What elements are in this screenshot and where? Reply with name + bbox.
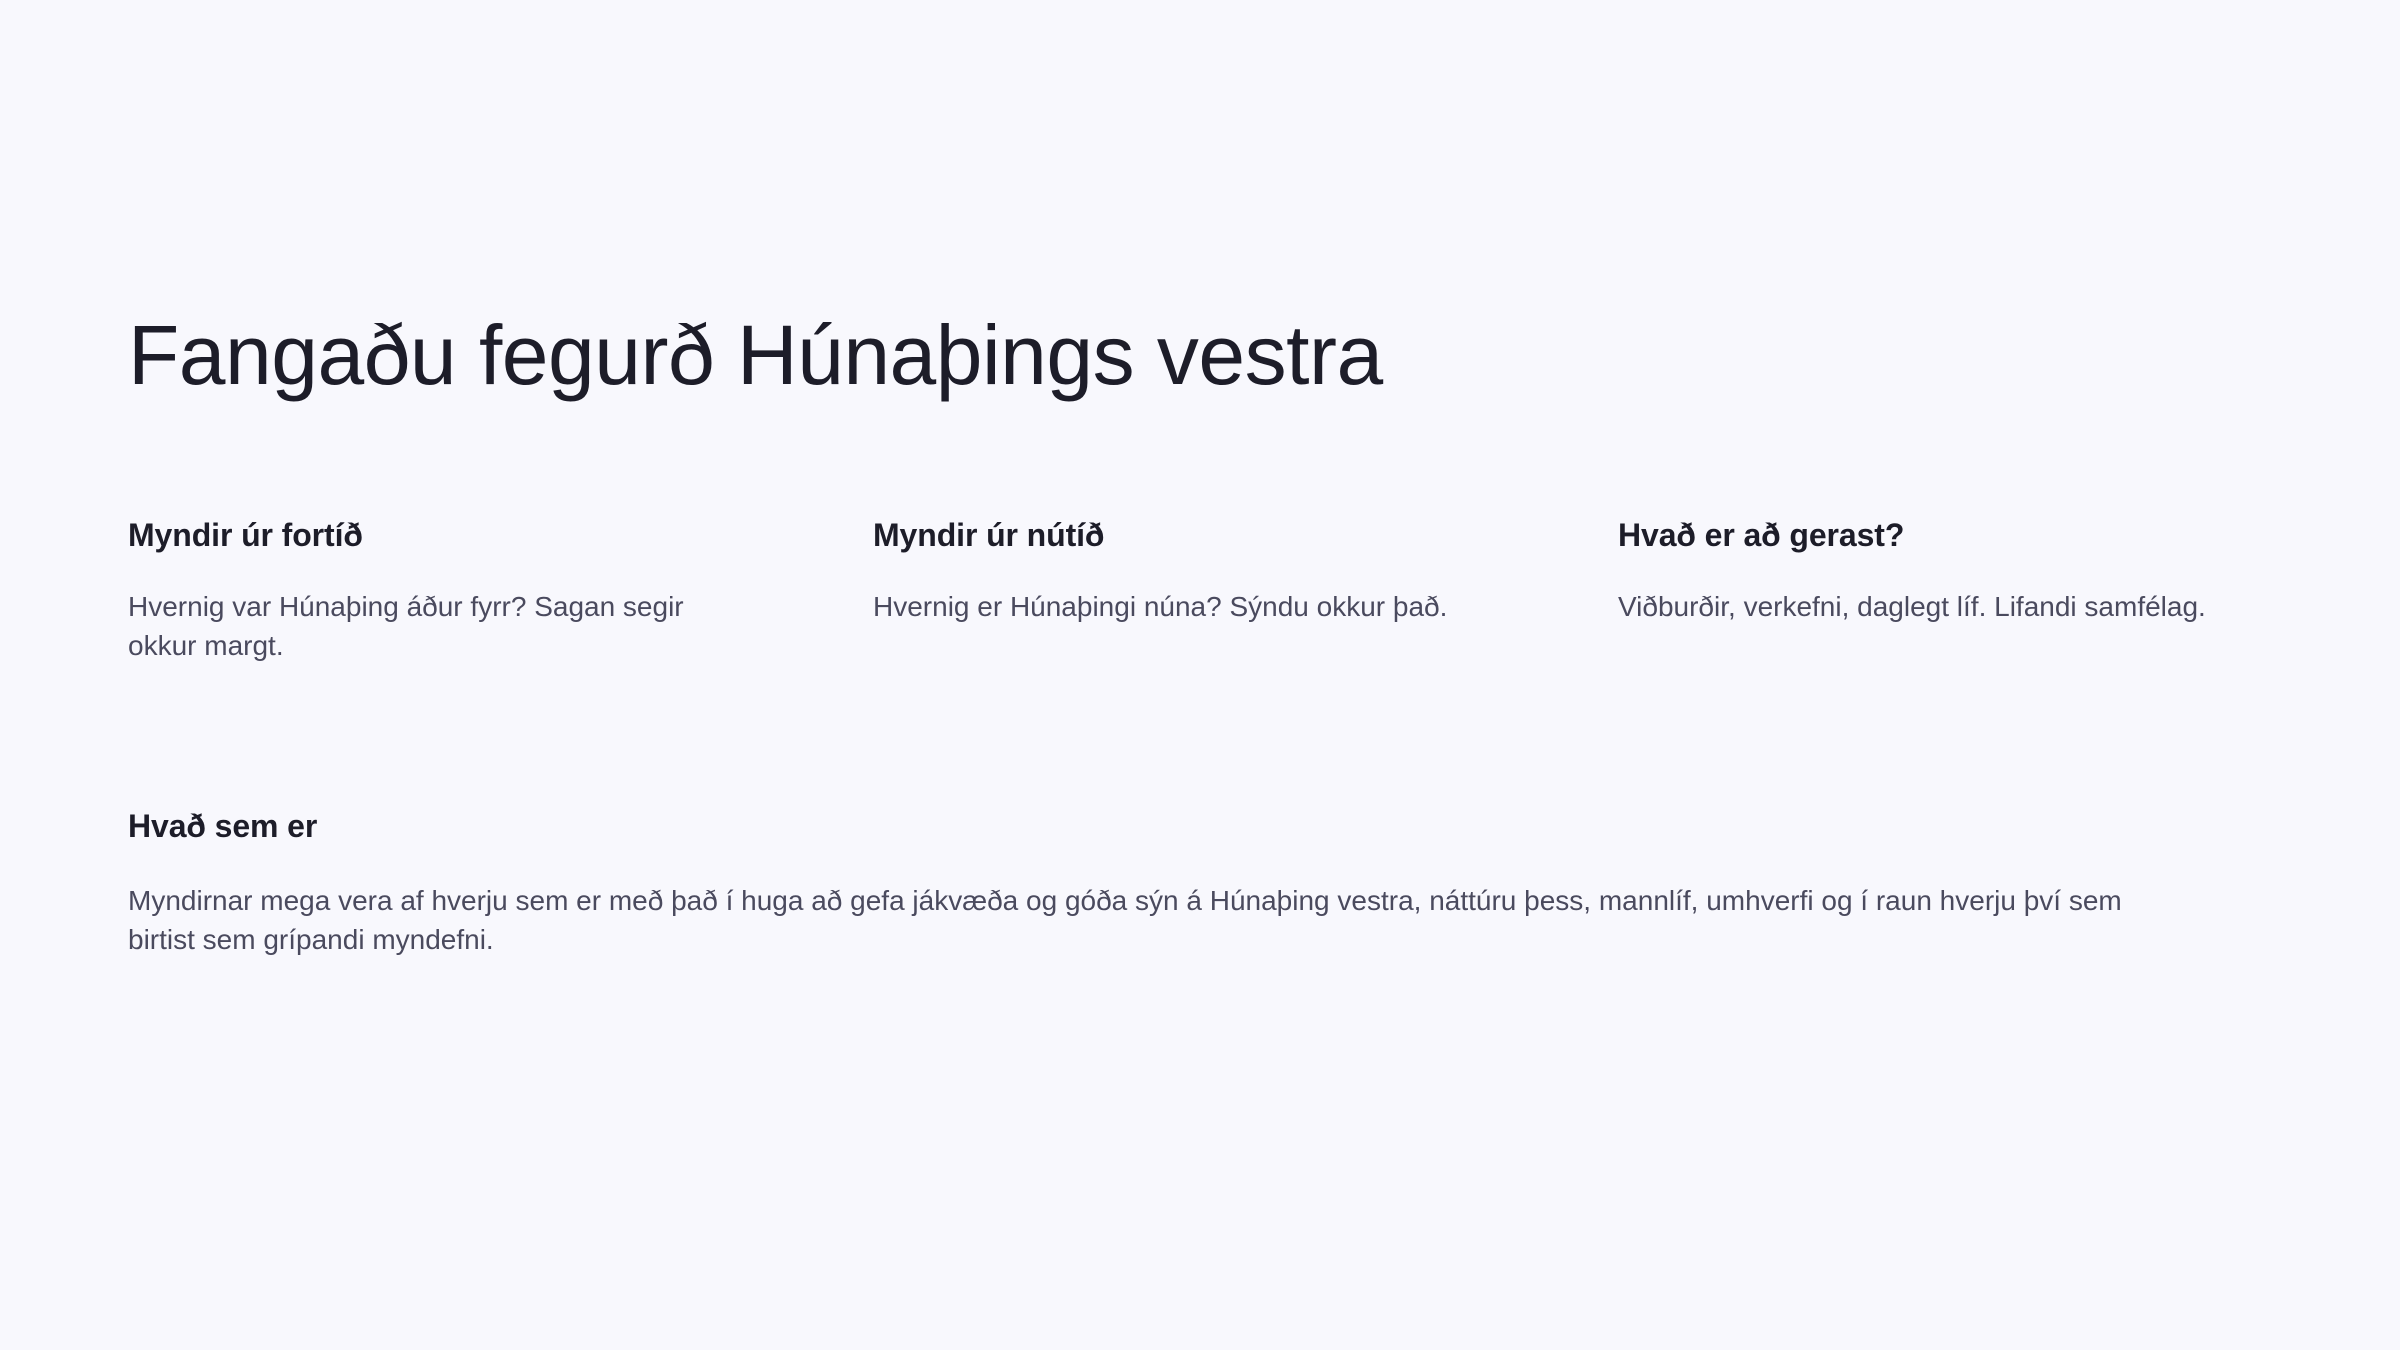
column-hvad-er-ad-gerast: Hvað er að gerast? Viðburðir, verkefni, … [1618, 515, 2238, 665]
wide-section-heading: Hvað sem er [128, 806, 2148, 846]
column-heading: Myndir úr nútíð [873, 515, 1493, 555]
wide-section-body: Myndirnar mega vera af hverju sem er með… [128, 882, 2138, 959]
page-title: Fangaðu fegurð Húnaþings vestra [128, 308, 1383, 402]
column-body: Viðburðir, verkefni, daglegt líf. Lifand… [1618, 588, 2238, 627]
feature-columns: Myndir úr fortíð Hvernig var Húnaþing áð… [128, 515, 2274, 665]
column-heading: Myndir úr fortíð [128, 515, 748, 555]
column-body: Hvernig var Húnaþing áður fyrr? Sagan se… [128, 588, 748, 665]
column-body: Hvernig er Húnaþingi núna? Sýndu okkur þ… [873, 588, 1493, 627]
column-myndir-ur-nutid: Myndir úr nútíð Hvernig er Húnaþingi nún… [873, 515, 1493, 665]
column-heading: Hvað er að gerast? [1618, 515, 2238, 555]
column-myndir-ur-fortid: Myndir úr fortíð Hvernig var Húnaþing áð… [128, 515, 748, 665]
page-root: Fangaðu fegurð Húnaþings vestra Myndir ú… [0, 0, 2400, 1350]
section-hvad-sem-er: Hvað sem er Myndirnar mega vera af hverj… [128, 806, 2148, 959]
